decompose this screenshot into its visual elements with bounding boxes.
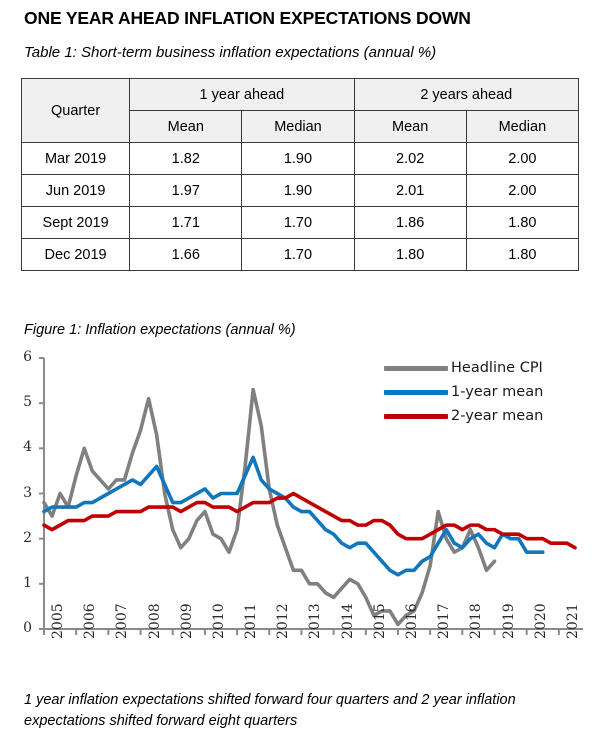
table-header-1-year-ahead: 1 year ahead: [130, 79, 354, 111]
table-caption: Table 1: Short-term business inflation e…: [24, 44, 436, 61]
legend-swatch-1-year-mean: [384, 390, 448, 395]
cell-2y-median: 1.80: [466, 239, 578, 271]
legend-item-2-year-mean: 2-year mean: [384, 404, 543, 428]
cell-2y-median: 2.00: [466, 143, 578, 175]
cell-quarter: Dec 2019: [22, 239, 130, 271]
table-header-2y-mean: Mean: [354, 111, 466, 143]
legend-item-headline-cpi: Headline CPI: [384, 356, 543, 380]
table-header-quarter: Quarter: [22, 79, 130, 143]
cell-1y-median: 1.70: [242, 207, 354, 239]
chart-legend: Headline CPI 1-year mean 2-year mean: [384, 356, 543, 428]
x-axis-tick-label: 2017: [436, 603, 452, 639]
table-header-1y-mean: Mean: [130, 111, 242, 143]
cell-2y-median: 1.80: [466, 207, 578, 239]
x-axis-tick-label: 2008: [147, 603, 163, 639]
legend-swatch-2-year-mean: [384, 414, 448, 419]
x-axis-tick-label: 2013: [307, 603, 323, 639]
cell-2y-mean: 2.01: [354, 175, 466, 207]
figure-caption: Figure 1: Inflation expectations (annual…: [24, 322, 296, 338]
legend-label-2-year-mean: 2-year mean: [451, 409, 543, 424]
x-axis-tick-label: 2010: [211, 603, 227, 639]
table-header-1y-median: Median: [242, 111, 354, 143]
y-axis-tick-label: 1: [10, 575, 32, 591]
y-axis-tick-label: 3: [10, 485, 32, 501]
table-row: Mar 2019 1.82 1.90 2.02 2.00: [22, 143, 579, 175]
cell-quarter: Mar 2019: [22, 143, 130, 175]
figure-footnote: 1 year inflation expectations shifted fo…: [24, 690, 580, 732]
table-row: Jun 2019 1.97 1.90 2.01 2.00: [22, 175, 579, 207]
x-axis-tick-label: 2015: [372, 603, 388, 639]
cell-1y-median: 1.90: [242, 143, 354, 175]
x-axis-tick-label: 2005: [50, 603, 66, 639]
x-axis-tick-label: 2011: [243, 603, 259, 639]
y-axis-tick-label: 5: [10, 394, 32, 410]
table-header-2y-median: Median: [466, 111, 578, 143]
x-axis-tick-label: 2018: [468, 603, 484, 639]
y-axis-tick-label: 4: [10, 439, 32, 455]
cell-quarter: Jun 2019: [22, 175, 130, 207]
cell-2y-mean: 1.86: [354, 207, 466, 239]
y-axis-tick-label: 6: [10, 349, 32, 365]
inflation-expectations-table: Quarter 1 year ahead 2 years ahead Mean …: [21, 78, 579, 271]
x-axis-tick-label: 2009: [179, 603, 195, 639]
page-root: ONE YEAR AHEAD INFLATION EXPECTATIONS DO…: [0, 0, 600, 742]
cell-1y-median: 1.90: [242, 175, 354, 207]
legend-swatch-headline-cpi: [384, 366, 448, 371]
cell-2y-mean: 1.80: [354, 239, 466, 271]
cell-1y-mean: 1.71: [130, 207, 242, 239]
cell-1y-mean: 1.82: [130, 143, 242, 175]
y-axis-tick-label: 2: [10, 530, 32, 546]
x-axis-tick-label: 2019: [501, 603, 517, 639]
y-axis-tick-label: 0: [10, 620, 32, 636]
cell-1y-mean: 1.97: [130, 175, 242, 207]
cell-1y-mean: 1.66: [130, 239, 242, 271]
x-axis-tick-label: 2012: [275, 603, 291, 639]
table-header-2-years-ahead: 2 years ahead: [354, 79, 578, 111]
page-title: ONE YEAR AHEAD INFLATION EXPECTATIONS DO…: [24, 8, 471, 29]
x-axis-tick-label: 2020: [533, 603, 549, 639]
cell-2y-mean: 2.02: [354, 143, 466, 175]
legend-label-headline-cpi: Headline CPI: [451, 361, 543, 376]
x-axis-tick-label: 2014: [340, 603, 356, 639]
cell-1y-median: 1.70: [242, 239, 354, 271]
table-row: Dec 2019 1.66 1.70 1.80 1.80: [22, 239, 579, 271]
x-axis-tick-label: 2016: [404, 603, 420, 639]
legend-item-1-year-mean: 1-year mean: [384, 380, 543, 404]
table-row: Sept 2019 1.71 1.70 1.86 1.80: [22, 207, 579, 239]
x-axis-tick-label: 2007: [114, 603, 130, 639]
legend-label-1-year-mean: 1-year mean: [451, 385, 543, 400]
table-header-row-1: Quarter 1 year ahead 2 years ahead: [22, 79, 579, 111]
x-axis-tick-label: 2021: [565, 603, 581, 639]
cell-quarter: Sept 2019: [22, 207, 130, 239]
x-axis-tick-label: 2006: [82, 603, 98, 639]
cell-2y-median: 2.00: [466, 175, 578, 207]
